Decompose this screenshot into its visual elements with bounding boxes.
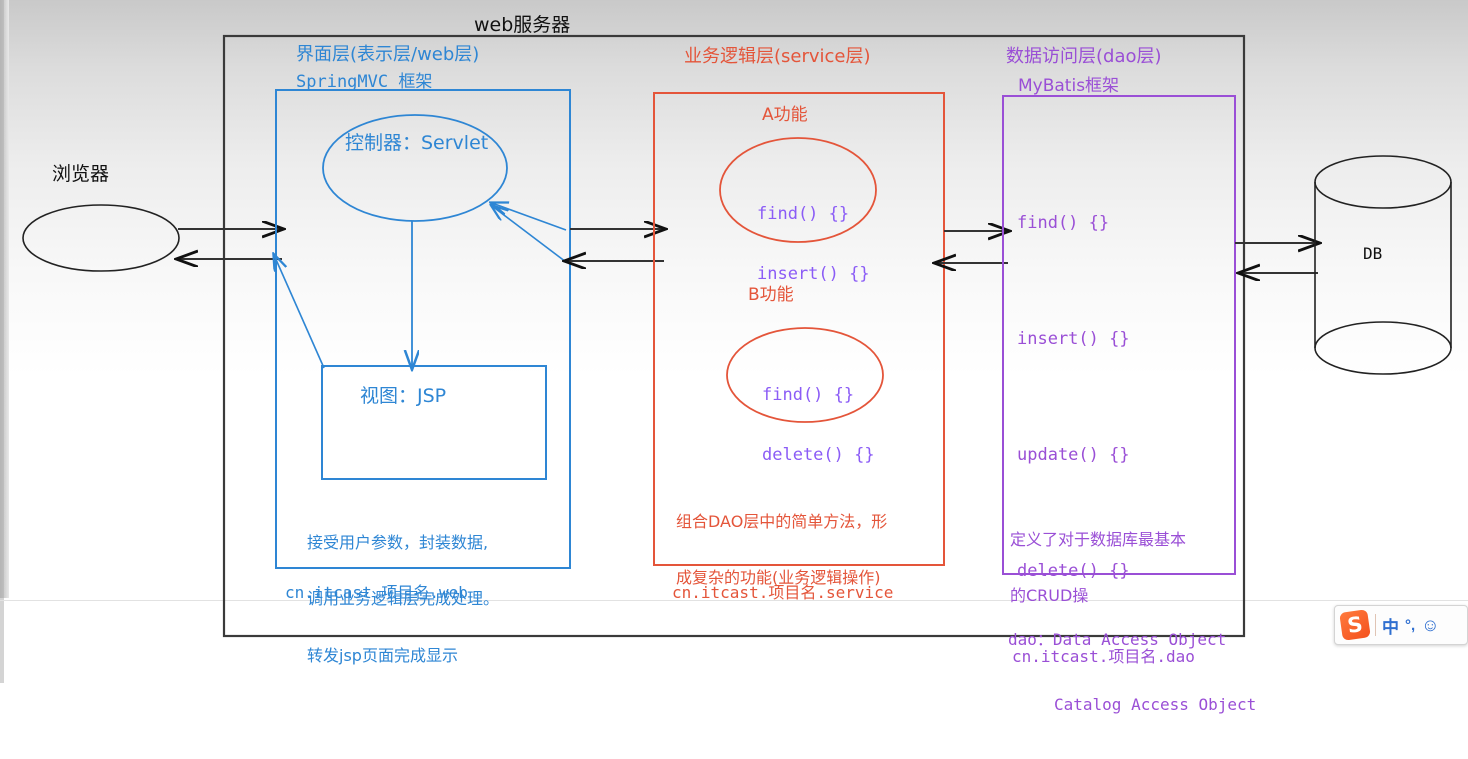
web-server-title: web服务器 (474, 14, 570, 36)
function-a-label: A功能 (762, 105, 808, 125)
function-b-label: B功能 (748, 285, 794, 305)
ime-punctuation-button[interactable]: °, (1405, 617, 1415, 634)
ime-language-mode-button[interactable]: 中 (1382, 613, 1399, 638)
ime-emoji-icon[interactable]: ☺ (1421, 615, 1439, 636)
view-box (322, 366, 546, 479)
database-shape (1315, 156, 1451, 374)
function-b-method-2: delete() {} (762, 445, 875, 465)
browser-label: 浏览器 (52, 163, 109, 185)
web-note-line-3: 转发jsp页面完成显示 (307, 647, 499, 666)
dao-acronym-line-2: Catalog Access Object (1008, 694, 1256, 716)
dao-layer-package: cn.itcast.项目名.dao (1012, 648, 1195, 667)
controller-label: 控制器：Servlet (345, 132, 488, 154)
dao-layer-framework: MyBatis框架 (1018, 76, 1119, 96)
line-inbound-upper-to-controller (492, 203, 566, 230)
dao-layer-title: 数据访问层(dao层) (1006, 46, 1162, 67)
database-label: DB (1363, 245, 1382, 264)
line-inbound-lower-to-controller (492, 206, 566, 262)
function-a-method-1: find() {} (757, 204, 870, 224)
service-layer-package: cn.itcast.项目名.service (672, 584, 893, 603)
web-layer-framework: SpringMVC 框架 (296, 72, 432, 92)
dao-note-line-1: 定义了对于数据库最基本 (1010, 531, 1186, 550)
ime-divider (1375, 614, 1376, 636)
diagram-canvas: web服务器 浏览器 DB 界面层(表示层/web层) SpringMVC 框架… (0, 0, 1468, 683)
service-layer-title: 业务逻辑层(service层) (684, 46, 871, 67)
dao-method-find: find() {} (1017, 204, 1130, 243)
dao-acronym: dao：Data Access Object Catalog Access Ob… (1008, 586, 1256, 759)
service-layer-note: 组合DAO层中的简单方法，形 成复杂的功能(业务逻辑操作) (676, 475, 887, 626)
service-note-line-1: 组合DAO层中的简单方法，形 (676, 513, 887, 532)
web-layer-title: 界面层(表示层/web层) (296, 44, 479, 65)
line-view-to-web-edge (274, 255, 324, 368)
web-layer-package: cn.itcast.项目名.web (285, 584, 468, 603)
controller-shape (323, 115, 507, 221)
ime-toolbar[interactable]: S 中 °, ☺ (1334, 605, 1468, 645)
dao-method-insert: insert() {} (1017, 320, 1130, 359)
browser-shape (23, 205, 179, 271)
sogou-logo-icon[interactable]: S (1339, 609, 1371, 641)
web-note-line-1: 接受用户参数，封装数据, (307, 534, 499, 553)
function-b-method-1: find() {} (762, 385, 875, 405)
function-a-method-2: insert() {} (757, 264, 870, 284)
view-label: 视图：JSP (360, 385, 446, 407)
dao-method-update: update() {} (1017, 436, 1130, 475)
